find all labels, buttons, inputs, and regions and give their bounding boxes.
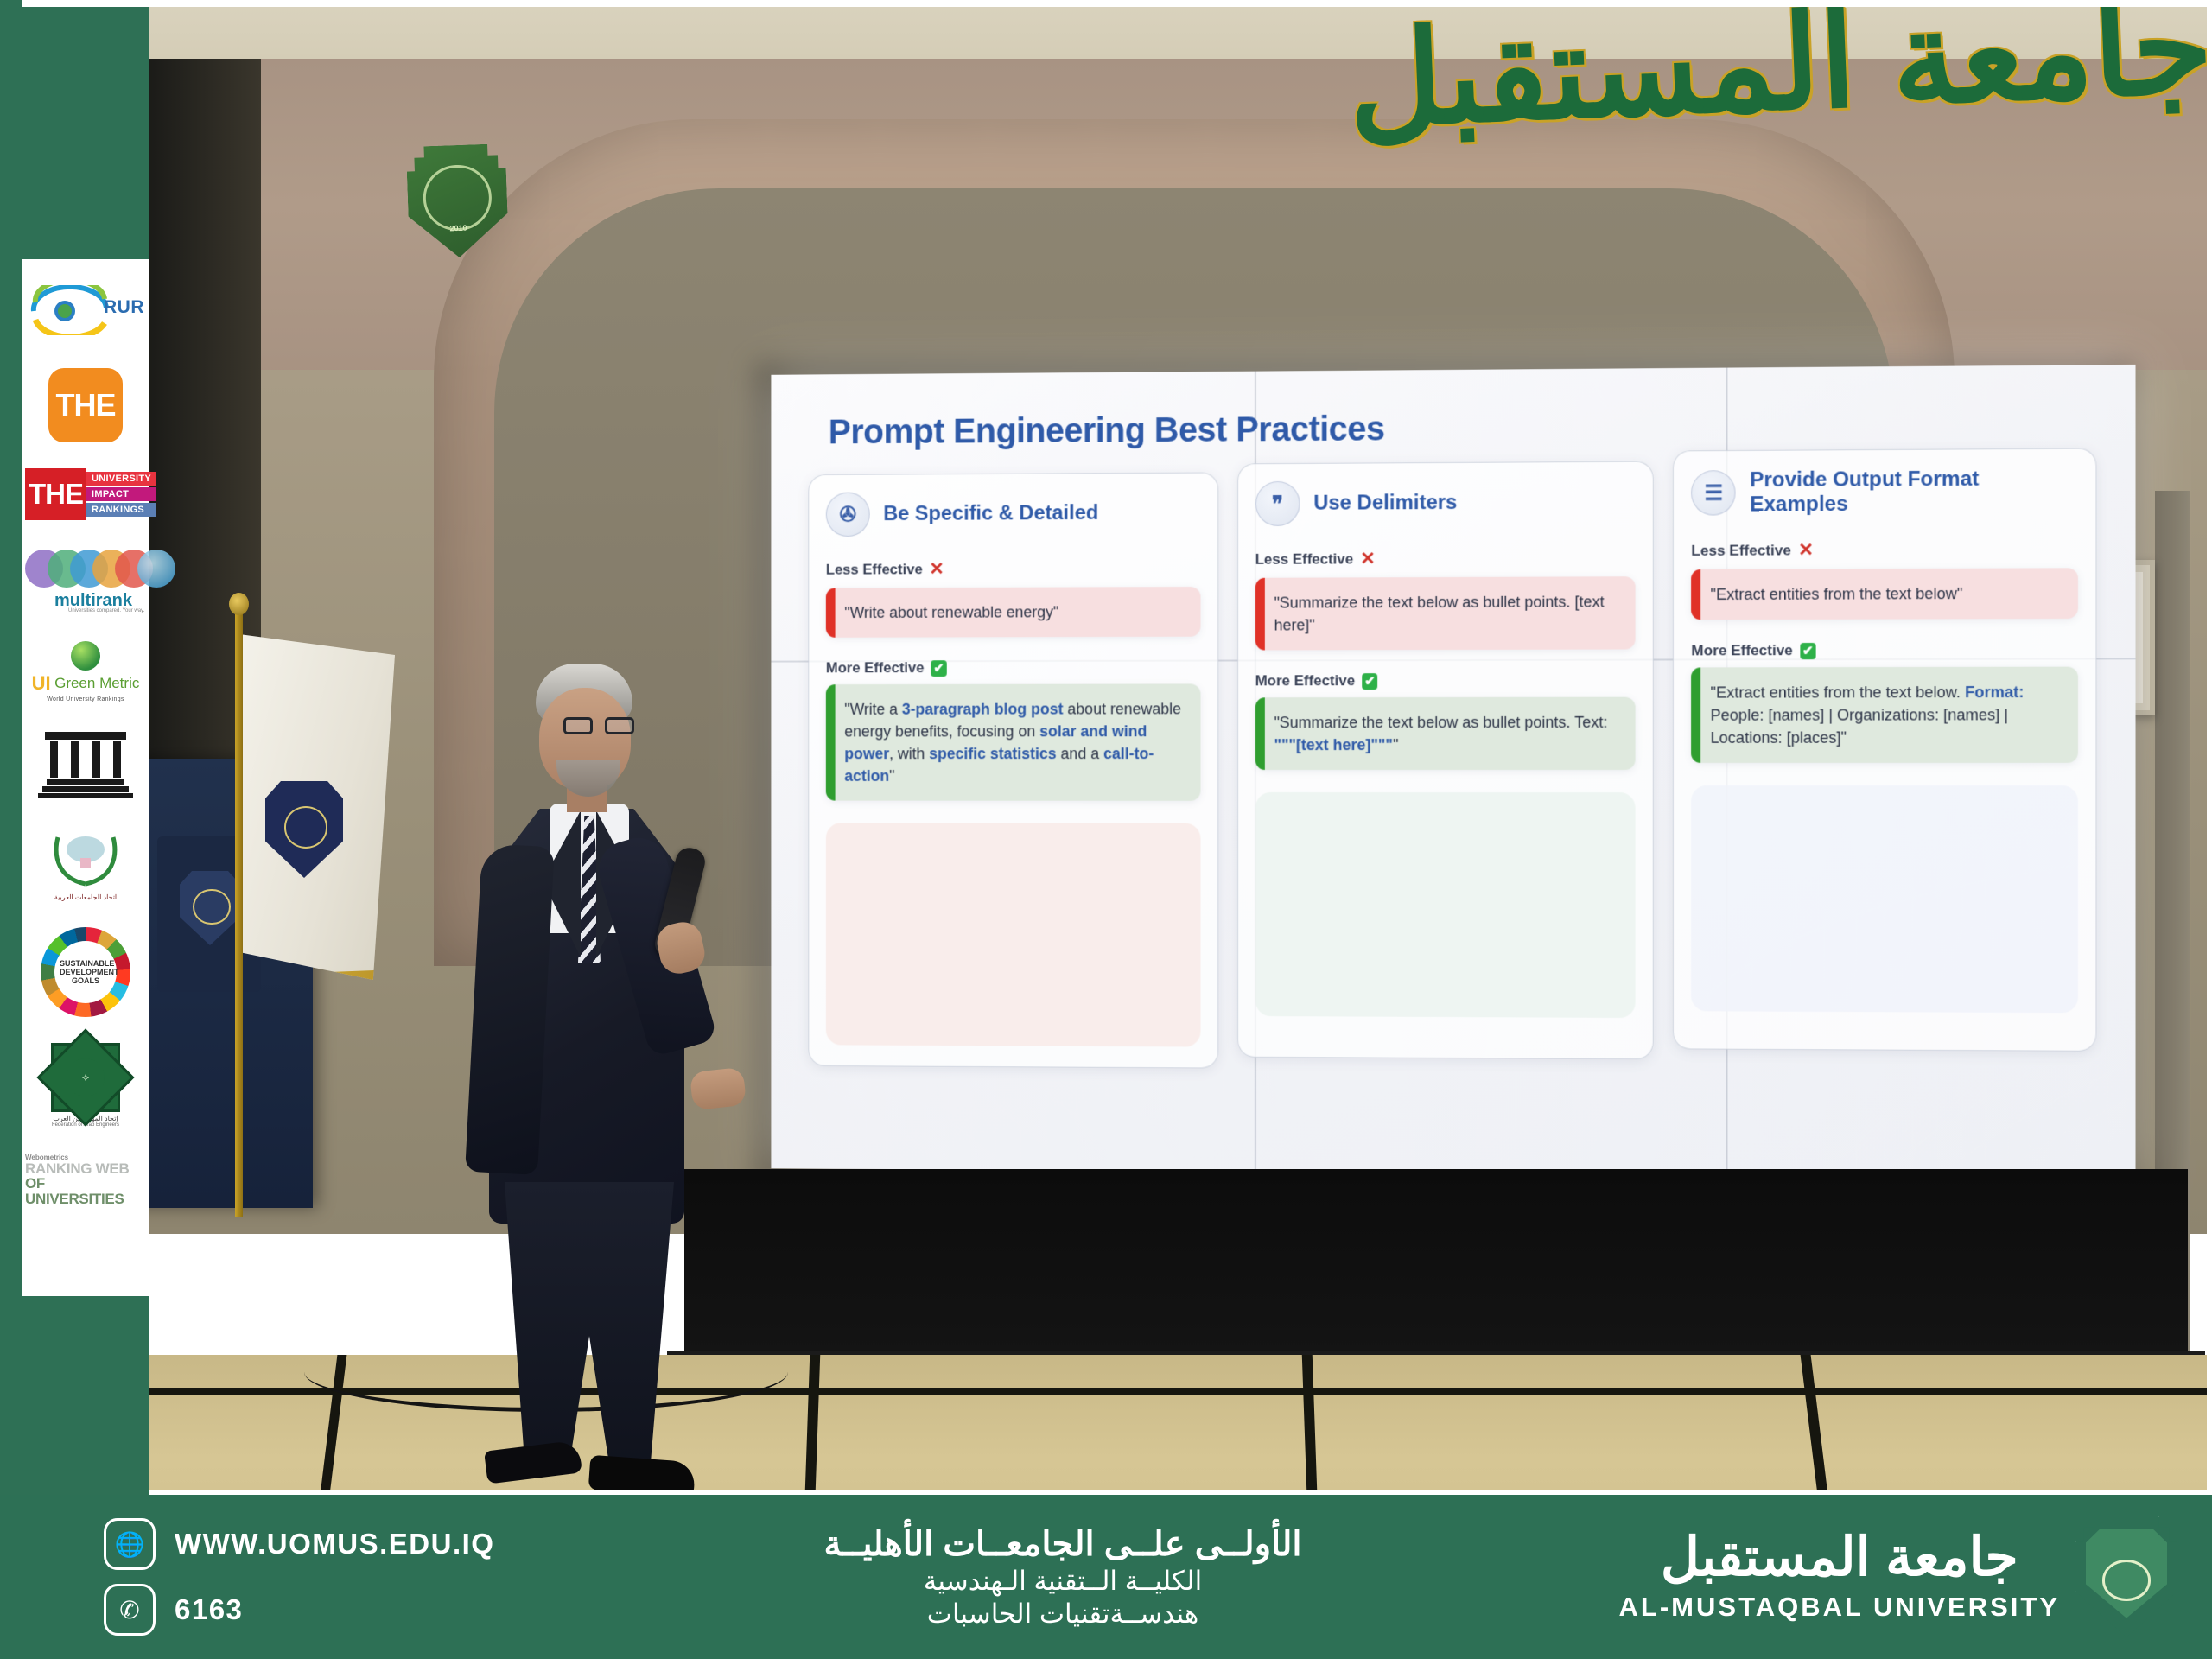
card-output-format: ☰ Provide Output Format Examples Less Ef…: [1673, 448, 2096, 1052]
card-title: Use Delimiters: [1313, 491, 1457, 516]
eight-point-star-icon: ⟡: [51, 1043, 120, 1112]
multirank-sub: Universities compared. Your way.: [68, 608, 144, 613]
less-effective-label: Less Effective ✕: [1255, 547, 1636, 570]
more-effective-example: "Extract entities from the text below. F…: [1691, 667, 2078, 764]
aaru-caption: اتحاد الجامعات العربية: [29, 893, 142, 901]
less-effective-text: Less Effective: [1691, 542, 1791, 560]
projection-screen: Prompt Engineering Best Practices ✇ Be S…: [771, 365, 2135, 1179]
cross-icon: ✕: [1360, 548, 1376, 569]
rankings-sidebar: RUR THE THE UNIVERSITY IMPACT RANKINGS: [22, 259, 149, 1296]
banner-arabic-text: الأولــى علــى الجامعــات الأهليــة الكل…: [553, 1524, 1573, 1630]
less-effective-example: "Write about renewable energy": [826, 587, 1200, 638]
rur-logo: RUR: [25, 280, 146, 342]
the-logo: THE: [48, 368, 123, 442]
banner-arabic-line-3: هندســةتقنيات الحاسبات: [553, 1599, 1573, 1630]
sidebar-item-webometrics: Webometrics RANKING WEB OF UNIVERSITIES: [25, 1154, 146, 1206]
more-effective-label: More Effective ✔: [1691, 641, 2078, 659]
lecture-hall-photo: 2010 جامعة المستقبل Prompt Engineering B…: [149, 7, 2207, 1495]
greenmetric-ui: UI: [32, 672, 51, 695]
banner-contact: 🌐 WWW.UOMUS.EDU.IQ ✆ 6163: [0, 1518, 553, 1636]
empty-pane: [1691, 785, 2078, 1013]
card-use-delimiters: ❞ Use Delimiters Less Effective ✕ "Summa…: [1237, 461, 1654, 1060]
empty-pane: [1255, 792, 1636, 1018]
greenmetric-name: Green Metric: [54, 675, 139, 692]
globe-icon: [71, 641, 100, 671]
check-icon: ✔: [1362, 673, 1378, 690]
sidebar-item-multirank: multirank Universities compared. Your wa…: [25, 546, 146, 615]
columns-logo: [38, 728, 133, 798]
less-effective-example: "Extract entities from the text below": [1691, 568, 2078, 620]
less-effective-label: Less Effective ✕: [1691, 538, 2078, 562]
banner-phone-row[interactable]: ✆ 6163: [104, 1584, 553, 1636]
check-icon: ✔: [1800, 643, 1816, 659]
brand-arabic: جامعة المستقبل: [1619, 1531, 2060, 1585]
emblem-ring: [423, 164, 493, 232]
banner-arabic-line-1: الأولــى علــى الجامعــات الأهليــة: [553, 1524, 1573, 1564]
greenmetric-sub: World University Rankings: [25, 696, 146, 702]
less-effective-label: Less Effective ✕: [826, 557, 1200, 580]
cross-icon: ✕: [930, 558, 944, 580]
check-icon: ✔: [931, 660, 946, 677]
sidebar-rail: [0, 0, 22, 1495]
sdg-wheel-logo: SUSTAINABLE DEVELOPMENT GOALS: [41, 927, 130, 1017]
rur-label: RUR: [104, 297, 144, 318]
frame-top: [0, 0, 2212, 7]
rur-eye-icon: [30, 285, 110, 335]
flag-crest: [265, 781, 343, 878]
card-title: Provide Output Format Examples: [1750, 467, 2078, 517]
more-effective-example: "Write a 3-paragraph blog post about ren…: [826, 684, 1200, 802]
association-arab-universities-logo: اتحاد الجامعات العربية: [29, 823, 142, 901]
ui-greenmetric-logo: UI Green Metric World University Ranking…: [25, 641, 146, 702]
more-effective-label: More Effective ✔: [1255, 672, 1636, 690]
the-impact-bars: UNIVERSITY IMPACT RANKINGS: [86, 468, 156, 520]
card-be-specific: ✇ Be Specific & Detailed Less Effective …: [808, 472, 1218, 1069]
sidebar-item-columns: [25, 728, 146, 798]
u-multirank-logo: multirank Universities compared. Your wa…: [25, 546, 146, 615]
the-impact-mark: THE: [25, 468, 86, 520]
less-effective-text: Less Effective: [826, 561, 923, 578]
target-icon: ✇: [826, 492, 870, 537]
more-effective-example: "Summarize the text below as bullet poin…: [1255, 697, 1636, 770]
presenter: [460, 664, 736, 1424]
the-impact-rankings-logo: THE UNIVERSITY IMPACT RANKINGS: [25, 468, 146, 520]
sdg-core-label: SUSTAINABLE DEVELOPMENT GOALS: [60, 960, 111, 986]
banner-website[interactable]: WWW.UOMUS.EDU.IQ: [175, 1528, 494, 1560]
sidebar-item-aaru: اتحاد الجامعات العربية: [25, 823, 146, 901]
phone-icon: ✆: [104, 1584, 156, 1636]
impact-line-3: RANKINGS: [86, 503, 156, 517]
brand-english: AL-MUSTAQBAL UNIVERSITY: [1619, 1592, 2060, 1623]
cross-icon: ✕: [1798, 539, 1814, 561]
card-header: ☰ Provide Output Format Examples: [1691, 467, 2078, 518]
banner-brand: جامعة المستقبل AL-MUSTAQBAL UNIVERSITY: [1573, 1516, 2212, 1637]
empty-pane: [826, 823, 1200, 1047]
federation-arab-engineers-logo: ⟡ إتحاد المهندسين العرب Federation of Ar…: [27, 1043, 144, 1128]
frame-right: [2207, 0, 2212, 1495]
sidebar-item-rur: RUR: [25, 280, 146, 342]
globe-www-icon: 🌐: [104, 1518, 156, 1570]
banner-website-row[interactable]: 🌐 WWW.UOMUS.EDU.IQ: [104, 1518, 553, 1570]
bottom-banner: 🌐 WWW.UOMUS.EDU.IQ ✆ 6163 الأولــى علــى…: [0, 1495, 2212, 1659]
slide-cards: ✇ Be Specific & Detailed Less Effective …: [808, 467, 2096, 1074]
star-inner: ⟡: [67, 1058, 105, 1096]
impact-line-2: IMPACT: [86, 487, 156, 501]
banner-phone[interactable]: 6163: [175, 1593, 243, 1626]
more-effective-text: More Effective: [1255, 672, 1356, 690]
card-title: Be Specific & Detailed: [883, 501, 1098, 526]
webometrics-logo: Webometrics RANKING WEB OF UNIVERSITIES: [25, 1154, 146, 1206]
flag-pole: [235, 612, 243, 1217]
floor-grout: [1801, 1355, 1843, 1495]
sidebar-item-the-impact: THE UNIVERSITY IMPACT RANKINGS: [25, 468, 146, 520]
list-icon: ☰: [1691, 470, 1736, 516]
stage-backdrop: [684, 1169, 2188, 1359]
brand-text: جامعة المستقبل AL-MUSTAQBAL UNIVERSITY: [1619, 1531, 2060, 1623]
less-effective-text: Less Effective: [1255, 550, 1354, 568]
glasses-icon: [563, 717, 634, 734]
slide-title: Prompt Engineering Best Practices: [829, 405, 2097, 452]
card-header: ❞ Use Delimiters: [1255, 480, 1636, 526]
impact-line-1: UNIVERSITY: [86, 472, 156, 486]
sidebar-item-the: THE: [25, 368, 146, 442]
presenter-hand-pointing: [690, 1067, 747, 1110]
banner-arabic-line-2: الكليــة الــتقنية الـهندسية: [553, 1566, 1573, 1597]
webometrics-line-2: OF UNIVERSITIES: [25, 1176, 146, 1206]
screenshot-root: 2010 جامعة المستقبل Prompt Engineering B…: [0, 0, 2212, 1659]
wreath-icon: [44, 823, 127, 887]
the-label: THE: [56, 387, 116, 423]
more-effective-text: More Effective: [1691, 642, 1792, 659]
university-flag: [239, 634, 395, 980]
more-effective-label: More Effective ✔: [826, 659, 1200, 677]
sidebar-item-sdg: SUSTAINABLE DEVELOPMENT GOALS: [25, 927, 146, 1017]
slide: Prompt Engineering Best Practices ✇ Be S…: [771, 365, 2135, 1179]
floor-grout: [801, 1355, 820, 1495]
less-effective-example: "Summarize the text below as bullet poin…: [1255, 576, 1636, 650]
card-header: ✇ Be Specific & Detailed: [826, 490, 1200, 537]
floor-grout: [1302, 1355, 1321, 1495]
webometrics-line-1: RANKING WEB: [25, 1161, 146, 1176]
sidebar-item-greenmetric: UI Green Metric World University Ranking…: [25, 641, 146, 702]
sidebar-item-fae: ⟡ إتحاد المهندسين العرب Federation of Ar…: [25, 1043, 146, 1128]
university-crest-icon: [2075, 1516, 2177, 1637]
quote-icon: ❞: [1255, 481, 1300, 526]
banner-top-rule: [149, 1490, 2212, 1495]
more-effective-text: More Effective: [826, 659, 925, 677]
multirank-dots: [25, 550, 175, 588]
